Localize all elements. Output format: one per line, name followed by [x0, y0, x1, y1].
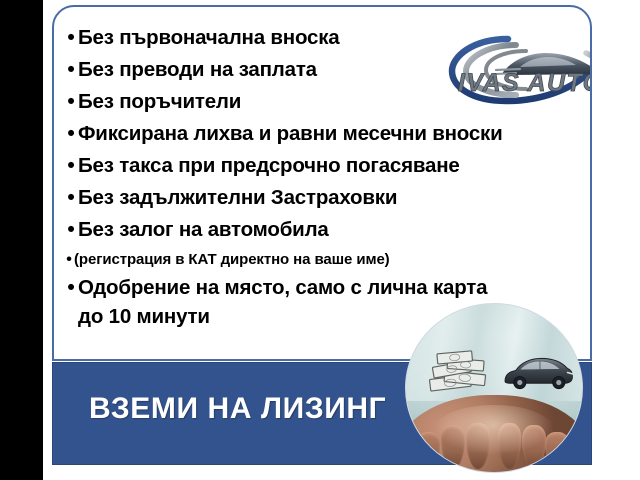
- offer-bullet-text: Без залог на автомобила: [78, 215, 329, 245]
- logo-wordmark: IVAS AUTO: [458, 69, 592, 97]
- bullet-marker-icon: •: [64, 87, 78, 117]
- offer-bullet-text: Без преводи на заплата: [78, 55, 317, 85]
- offer-bullet-text: (регистрация в КАТ директно на ваше име): [74, 247, 390, 273]
- palm-highlight: [434, 405, 554, 455]
- offer-bullet-text: Без задължителни Застраховки: [78, 183, 397, 213]
- bullet-marker-icon: •: [64, 151, 78, 181]
- cash-money-stack-icon: [425, 348, 499, 402]
- offer-bullet-item: •Фиксирана лихва и равни месечни вноски: [64, 119, 586, 149]
- offer-bullet-item: •Без задължителни Застраховки: [64, 183, 586, 213]
- offer-bullet-item: •Без залог на автомобила: [64, 215, 586, 245]
- car-photo-icon: [501, 349, 575, 396]
- offer-bullet-text: Фиксирана лихва и равни месечни вноски: [78, 119, 503, 149]
- bullet-marker-icon: •: [64, 119, 78, 149]
- banner-headline: ВЗЕМИ НА ЛИЗИНГ: [89, 392, 386, 426]
- letterbox-bar-left: [0, 0, 43, 480]
- bullet-marker-icon: •: [64, 273, 78, 303]
- offer-bullet-item: •Без такса при предсрочно погасяване: [64, 151, 586, 181]
- offer-bullet-text: Без първоначална вноска: [78, 23, 340, 53]
- ivas-auto-logo: IVAS AUTO: [446, 31, 592, 107]
- offer-bullet-item: •(регистрация в КАТ директно на ваше име…: [64, 247, 586, 273]
- offer-bullet-text: Без такса при предсрочно погасяване: [78, 151, 460, 181]
- offer-bullet-text: Без поръчители: [78, 87, 241, 117]
- bullet-marker-icon: •: [64, 55, 78, 85]
- bullet-marker-icon: •: [64, 183, 78, 213]
- hands-holding-money-and-car-photo: [405, 303, 583, 473]
- bullet-marker-icon: •: [64, 23, 78, 53]
- bullet-marker-icon: •: [64, 215, 78, 245]
- bullet-marker-icon: •: [64, 247, 74, 273]
- advertisement-image: •Без първоначална вноска•Без преводи на …: [0, 0, 640, 480]
